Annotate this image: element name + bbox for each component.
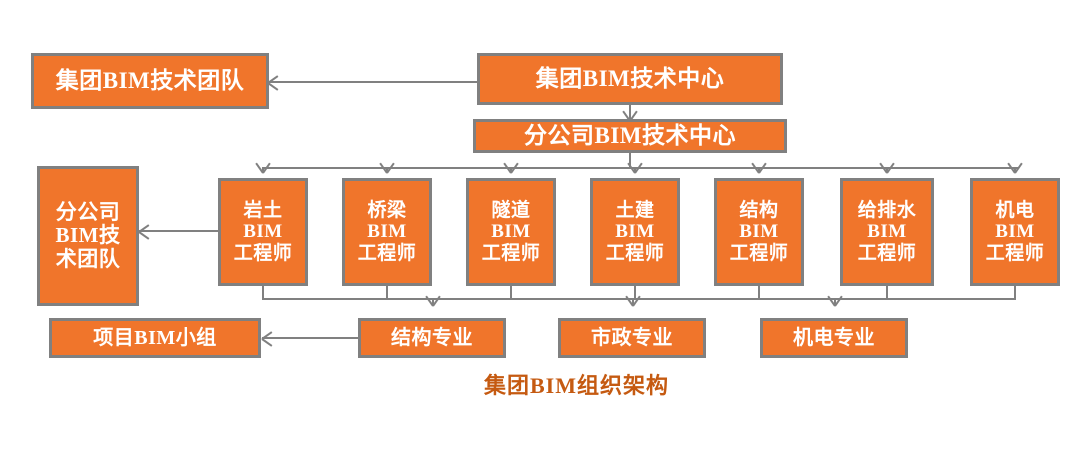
- discipline-drop-3: [510, 285, 512, 299]
- node-project-bim-group[interactable]: 项目BIM小组: [49, 318, 261, 358]
- discipline-drop-7: [1014, 285, 1016, 299]
- node-branch-bim-center[interactable]: 分公司BIM技术中心: [473, 119, 787, 153]
- node-engineer-1[interactable]: 岩土 BIM 工程师: [218, 178, 308, 286]
- discipline-drop-4: [634, 285, 636, 299]
- node-branch-bim-team[interactable]: 分公司 BIM技 术团队: [37, 166, 139, 306]
- connector-engineers-to-branch-team: [139, 230, 219, 232]
- connector-discipline-to-project-group: [262, 337, 358, 339]
- connector-center-to-team: [268, 81, 478, 83]
- node-engineer-6[interactable]: 给排水 BIM 工程师: [840, 178, 934, 286]
- node-group-bim-team[interactable]: 集团BIM技术团队: [31, 53, 269, 109]
- node-engineer-4[interactable]: 土建 BIM 工程师: [590, 178, 680, 286]
- node-group-bim-center[interactable]: 集团BIM技术中心: [477, 53, 783, 105]
- node-engineer-2[interactable]: 桥梁 BIM 工程师: [342, 178, 432, 286]
- discipline-drop-6: [886, 285, 888, 299]
- node-engineer-5[interactable]: 结构 BIM 工程师: [714, 178, 804, 286]
- node-engineer-7[interactable]: 机电 BIM 工程师: [970, 178, 1060, 286]
- discipline-drop-5: [758, 285, 760, 299]
- discipline-drop-1: [262, 285, 264, 299]
- node-discipline-1[interactable]: 结构专业: [358, 318, 506, 358]
- node-discipline-2[interactable]: 市政专业: [558, 318, 706, 358]
- node-engineer-3[interactable]: 隧道 BIM 工程师: [466, 178, 556, 286]
- discipline-drop-2: [386, 285, 388, 299]
- diagram-caption: 集团BIM组织架构: [484, 368, 669, 400]
- node-discipline-3[interactable]: 机电专业: [760, 318, 908, 358]
- org-chart-diagram: 集团BIM技术团队 集团BIM技术中心 分公司BIM技术中心 分公司 BIM技 …: [0, 0, 1080, 469]
